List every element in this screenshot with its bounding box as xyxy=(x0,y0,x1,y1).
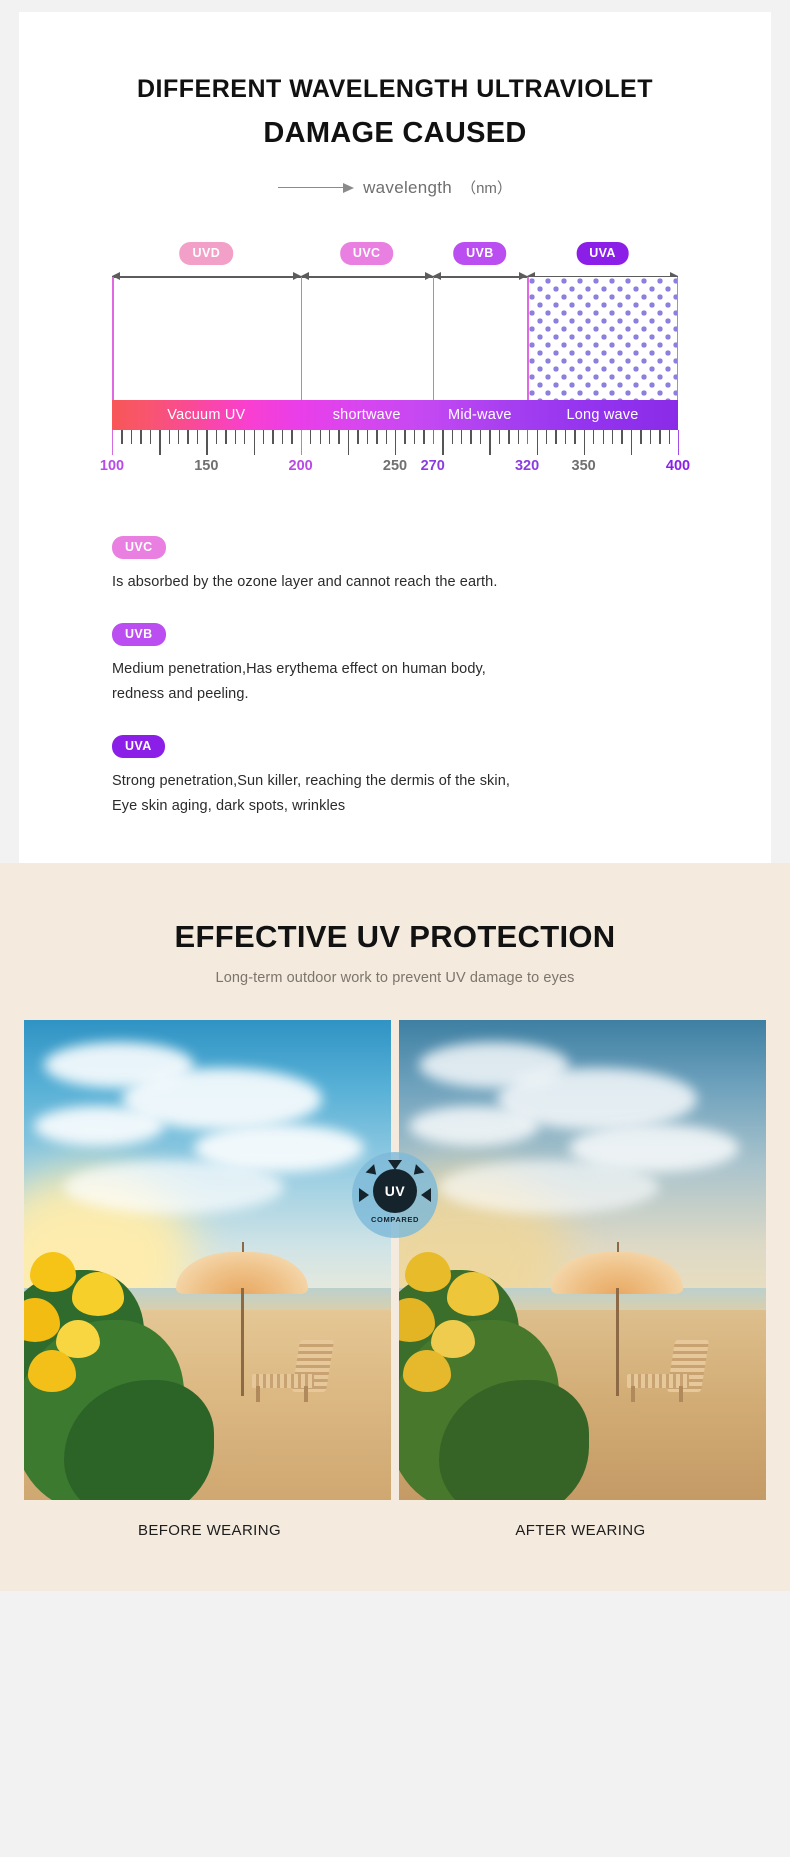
uv-compared-badge[interactable]: UV COMPARED xyxy=(352,1152,438,1238)
axis-tick-label: 270 xyxy=(421,458,445,474)
ruler-tick xyxy=(452,430,453,444)
ruler-tick xyxy=(650,430,651,444)
description-line: Eye skin aging, dark spots, wrinkles xyxy=(112,794,678,819)
caption-before: BEFORE WEARING xyxy=(24,1522,395,1539)
beach-chair xyxy=(252,1340,330,1402)
uva-dotted-region xyxy=(527,277,678,400)
ruler-tick xyxy=(263,430,264,444)
band-pill-uva: UVA xyxy=(576,242,629,265)
arrow-right-icon xyxy=(278,183,354,193)
description-text: Strong penetration,Sun killer, reaching … xyxy=(112,769,678,819)
description-pill-uvc: UVC xyxy=(112,536,166,559)
ruler-tick xyxy=(225,430,226,444)
ruler-tick xyxy=(367,430,368,444)
protection-title: EFFECTIVE UV PROTECTION xyxy=(0,919,790,955)
axis-tick-label: 100 xyxy=(100,458,124,474)
ruler-tick xyxy=(131,430,132,444)
description-text: Is absorbed by the ozone layer and canno… xyxy=(112,570,678,595)
ruler-tick xyxy=(187,430,188,444)
ruler-tick xyxy=(499,430,500,444)
ruler-tick xyxy=(461,430,462,444)
ruler-tick xyxy=(386,430,387,444)
boundary-guide-270 xyxy=(433,277,435,400)
axis-tick-label: 320 xyxy=(515,458,539,474)
ruler-tick xyxy=(584,430,585,455)
ruler-tick xyxy=(159,430,160,455)
uv-damage-section: DIFFERENT WAVELENGTH ULTRAVIOLET DAMAGE … xyxy=(0,0,790,863)
ruler-tick xyxy=(574,430,575,444)
ruler-tick xyxy=(631,430,632,455)
ruler-tick xyxy=(178,430,179,444)
axis-tick-labels: 100150200250270320350400 xyxy=(112,458,678,480)
ruler-tick xyxy=(470,430,471,444)
ruler-tick xyxy=(197,430,198,444)
ruler-tick xyxy=(659,430,660,444)
axis-tick-label: 400 xyxy=(666,458,690,474)
ruler-tick xyxy=(272,430,273,444)
band-pill-uvd: UVD xyxy=(180,242,234,265)
flower-petal xyxy=(30,1252,76,1292)
ruler-tick xyxy=(357,430,358,444)
color-bar-segment: Mid-wave xyxy=(433,400,527,430)
wavelength-axis-caption: wavelength （nm） xyxy=(19,177,771,198)
color-bar-segment: Vacuum UV xyxy=(112,400,301,430)
arrow-right-icon xyxy=(421,1188,431,1202)
umbrella-pole xyxy=(616,1288,619,1396)
axis-tick-label: 250 xyxy=(383,458,407,474)
cloud-shape xyxy=(409,1106,539,1146)
description-line: Medium penetration,Has erythema effect o… xyxy=(112,657,678,682)
ruler-tick xyxy=(640,430,641,444)
axis-tick-label: 150 xyxy=(194,458,218,474)
flower-petal xyxy=(28,1350,76,1392)
band-pill-uvb: UVB xyxy=(453,242,507,265)
wavelength-label: wavelength xyxy=(363,178,452,198)
description-pill-uva: UVA xyxy=(112,735,165,758)
wavelength-ruler xyxy=(112,430,678,457)
cloud-shape xyxy=(34,1106,164,1146)
color-bar-segment: Long wave xyxy=(527,400,678,430)
ruler-tick xyxy=(169,430,170,444)
band-pill-uvc: UVC xyxy=(340,242,394,265)
ruler-tick xyxy=(527,430,528,444)
ruler-tick xyxy=(565,430,566,444)
ruler-tick xyxy=(320,430,321,444)
beach-chair xyxy=(627,1340,705,1402)
ruler-tick xyxy=(282,430,283,444)
ruler-tick xyxy=(433,430,434,444)
ruler-tick xyxy=(235,430,236,444)
page-subtitle: DAMAGE CAUSED xyxy=(19,117,771,150)
uv-descriptions: UVCIs absorbed by the ozone layer and ca… xyxy=(112,536,678,819)
comparison-captions: BEFORE WEARING AFTER WEARING xyxy=(24,1522,766,1591)
ruler-tick xyxy=(140,430,141,444)
umbrella-pole xyxy=(241,1288,244,1396)
ruler-tick xyxy=(254,430,255,455)
description-pill-uvb: UVB xyxy=(112,623,166,646)
arrow-up-right-icon xyxy=(410,1164,425,1179)
description-block-uvc: UVCIs absorbed by the ozone layer and ca… xyxy=(112,536,678,595)
ruler-tick xyxy=(537,430,538,455)
ruler-tick xyxy=(603,430,604,444)
ruler-tick xyxy=(395,430,396,455)
ruler-tick xyxy=(301,430,302,455)
ruler-tick xyxy=(546,430,547,444)
spectrum-color-bar: Vacuum UVshortwaveMid-waveLong wave xyxy=(112,400,678,430)
ruler-tick xyxy=(612,430,613,444)
ruler-tick xyxy=(348,430,349,455)
ruler-tick xyxy=(310,430,311,444)
ruler-tick xyxy=(121,430,122,444)
description-text: Medium penetration,Has erythema effect o… xyxy=(112,657,678,707)
ruler-tick xyxy=(555,430,556,444)
uv-protection-section: EFFECTIVE UV PROTECTION Long-term outdoo… xyxy=(0,863,790,1591)
ruler-tick xyxy=(244,430,245,444)
flower-petal xyxy=(403,1350,451,1392)
after-wearing-photo xyxy=(399,1020,766,1500)
cloud-shape xyxy=(439,1160,659,1214)
ruler-tick xyxy=(508,430,509,444)
ruler-tick xyxy=(678,430,679,455)
arrow-left-icon xyxy=(359,1188,369,1202)
description-block-uva: UVAStrong penetration,Sun killer, reachi… xyxy=(112,735,678,819)
ruler-tick xyxy=(593,430,594,444)
flower-petal xyxy=(405,1252,451,1292)
wavelength-unit: （nm） xyxy=(461,177,512,198)
ruler-tick xyxy=(338,430,339,444)
caption-after: AFTER WEARING xyxy=(395,1522,766,1539)
uv-card: DIFFERENT WAVELENGTH ULTRAVIOLET DAMAGE … xyxy=(19,12,771,863)
axis-tick-label: 350 xyxy=(572,458,596,474)
ruler-tick xyxy=(518,430,519,444)
ruler-tick xyxy=(216,430,217,444)
ruler-tick xyxy=(329,430,330,444)
ruler-tick xyxy=(404,430,405,444)
ruler-tick xyxy=(150,430,151,444)
description-line: Is absorbed by the ozone layer and canno… xyxy=(112,570,678,595)
description-line: redness and peeling. xyxy=(112,682,678,707)
boundary-guide-320 xyxy=(527,277,529,400)
protection-subtitle: Long-term outdoor work to prevent UV dam… xyxy=(0,970,790,986)
before-wearing-photo xyxy=(24,1020,391,1500)
arrow-up-icon xyxy=(388,1160,402,1170)
boundary-guide-100 xyxy=(112,277,114,400)
ruler-tick xyxy=(414,430,415,444)
badge-core: UV xyxy=(373,1169,417,1213)
color-bar-segment: shortwave xyxy=(301,400,433,430)
cloud-shape xyxy=(64,1160,284,1214)
ruler-tick xyxy=(112,430,113,455)
ruler-tick xyxy=(480,430,481,444)
boundary-guide-200 xyxy=(301,277,303,400)
ruler-tick xyxy=(669,430,670,444)
ruler-tick xyxy=(489,430,490,455)
badge-primary-label: UV xyxy=(385,1183,405,1199)
uv-spectrum-chart: UVDUVCUVBUVAVacuum UVshortwaveMid-waveLo… xyxy=(112,242,678,484)
ruler-tick xyxy=(621,430,622,444)
before-after-comparison: UV COMPARED xyxy=(24,1020,766,1500)
ruler-tick xyxy=(442,430,443,455)
ruler-tick xyxy=(206,430,207,455)
band-boxes xyxy=(112,277,678,400)
page-title: DIFFERENT WAVELENGTH ULTRAVIOLET xyxy=(19,74,771,105)
badge-secondary-label: COMPARED xyxy=(371,1215,419,1224)
description-block-uvb: UVBMedium penetration,Has erythema effec… xyxy=(112,623,678,707)
description-line: Strong penetration,Sun killer, reaching … xyxy=(112,769,678,794)
ruler-tick xyxy=(423,430,424,444)
axis-tick-label: 200 xyxy=(289,458,313,474)
ruler-tick xyxy=(291,430,292,444)
ruler-tick xyxy=(376,430,377,444)
